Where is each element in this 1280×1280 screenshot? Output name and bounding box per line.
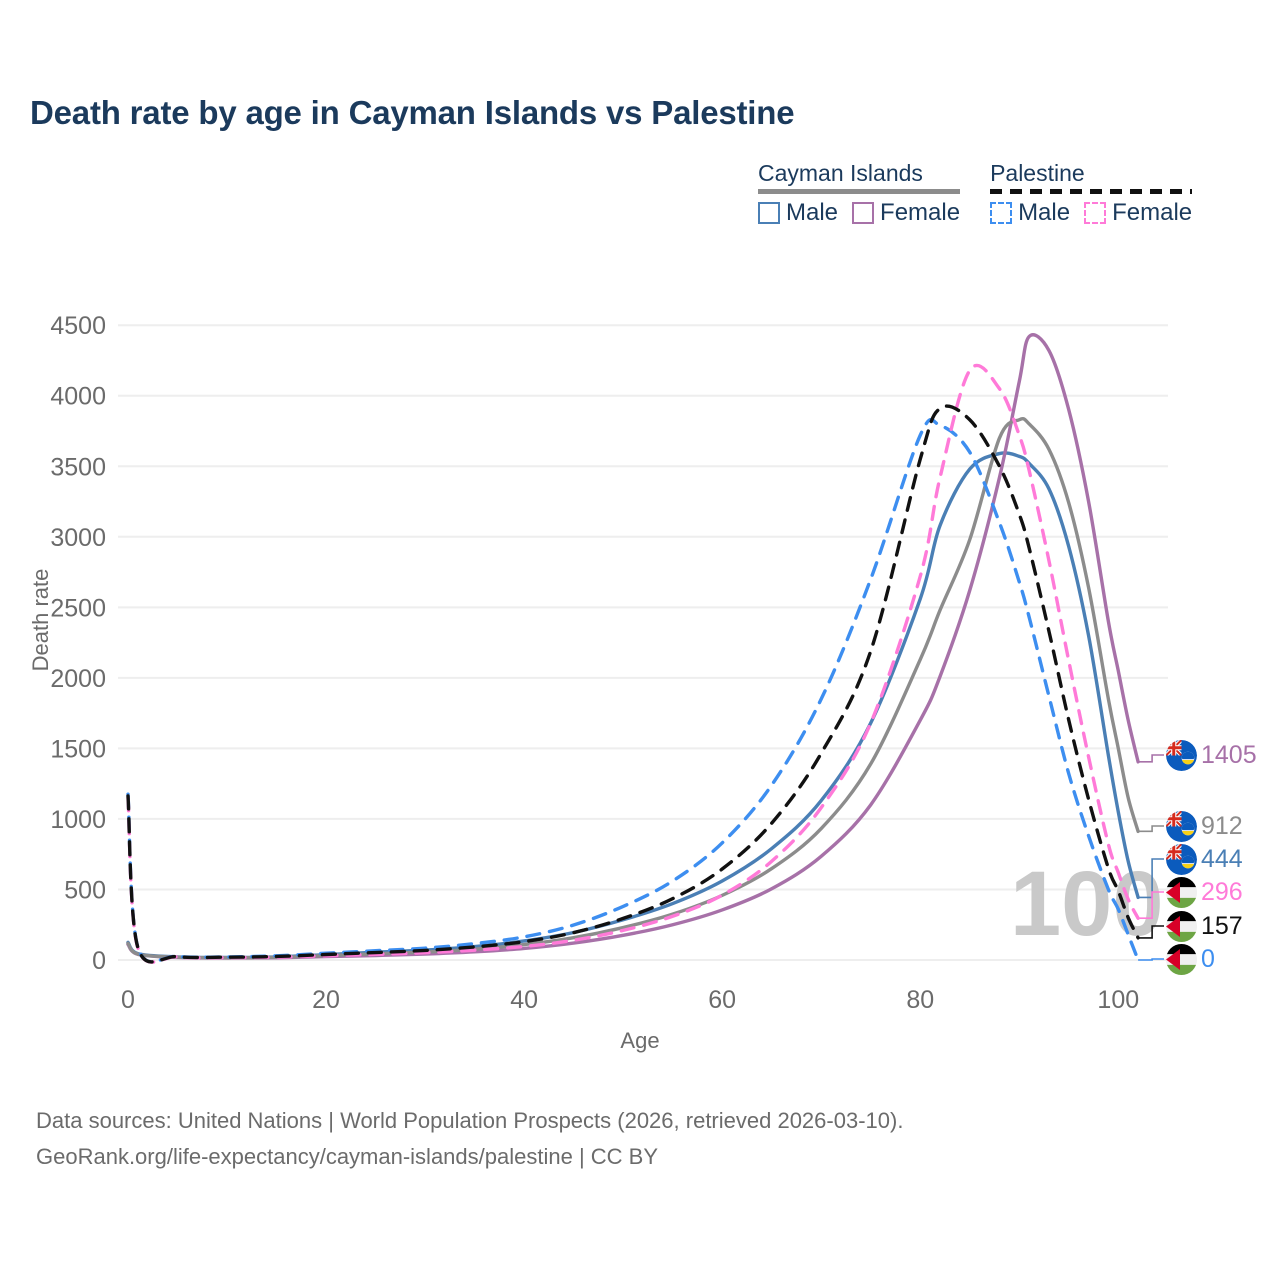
x-tick-80: 80	[906, 986, 934, 1014]
end-label-value-cayman-female: 1405	[1201, 743, 1257, 768]
palestine-flag-icon	[1166, 944, 1197, 975]
connector-cayman-total	[1138, 826, 1164, 831]
end-label-value-cayman-total: 912	[1201, 814, 1243, 839]
y-tick-500: 500	[64, 876, 106, 904]
footer-line-1: Data sources: United Nations | World Pop…	[36, 1103, 903, 1139]
end-label-value-palestine-total: 157	[1201, 914, 1243, 939]
y-tick-1500: 1500	[50, 735, 106, 763]
end-label-cayman-total: 912	[1166, 811, 1243, 842]
y-tick-2000: 2000	[50, 665, 106, 693]
palestine-flag-icon	[1166, 911, 1197, 942]
y-axis-tick-labels: 050010001500200025003000350040004500	[50, 312, 106, 975]
end-label-palestine-female: 296	[1166, 877, 1243, 908]
end-label-palestine-male: 0	[1166, 944, 1215, 975]
end-label-value-cayman-male: 444	[1201, 847, 1243, 872]
cayman-flag-icon	[1166, 811, 1197, 842]
y-tick-2500: 2500	[50, 594, 106, 622]
connector-cayman-female	[1138, 755, 1164, 762]
x-tick-40: 40	[510, 986, 538, 1014]
end-label-value-palestine-female: 296	[1201, 880, 1243, 905]
end-label-cayman-female: 1405	[1166, 740, 1257, 771]
x-axis-title: Age	[620, 1028, 659, 1053]
y-tick-3500: 3500	[50, 453, 106, 481]
watermark-100: 100	[1010, 853, 1164, 955]
y-tick-1000: 1000	[50, 806, 106, 834]
end-label-value-palestine-male: 0	[1201, 947, 1215, 972]
x-axis-tick-labels: 020406080100	[121, 986, 1139, 1014]
y-tick-0: 0	[92, 947, 106, 975]
series-line-palestine-female	[128, 365, 1138, 962]
cayman-flag-icon	[1166, 740, 1197, 771]
palestine-flag-icon	[1166, 877, 1197, 908]
series-line-palestine-male	[128, 420, 1138, 962]
chart-plot-area: 050010001500200025003000350040004500 020…	[0, 0, 1280, 1280]
x-tick-60: 60	[708, 986, 736, 1014]
footer-line-2: GeoRank.org/life-expectancy/cayman-islan…	[36, 1139, 903, 1175]
chart-series-lines	[128, 335, 1138, 962]
y-tick-4000: 4000	[50, 383, 106, 411]
y-tick-4500: 4500	[50, 312, 106, 340]
x-tick-100: 100	[1097, 986, 1139, 1014]
y-tick-3000: 3000	[50, 524, 106, 552]
end-label-palestine-total: 157	[1166, 911, 1243, 942]
y-axis-title: Death rate	[28, 569, 53, 672]
x-tick-0: 0	[121, 986, 135, 1014]
end-label-cayman-male: 444	[1166, 844, 1243, 875]
series-line-cayman-islands-female	[128, 335, 1138, 958]
footer: Data sources: United Nations | World Pop…	[36, 1103, 903, 1175]
x-tick-20: 20	[312, 986, 340, 1014]
series-line-cayman-islands-total	[128, 419, 1138, 958]
cayman-flag-icon	[1166, 844, 1197, 875]
